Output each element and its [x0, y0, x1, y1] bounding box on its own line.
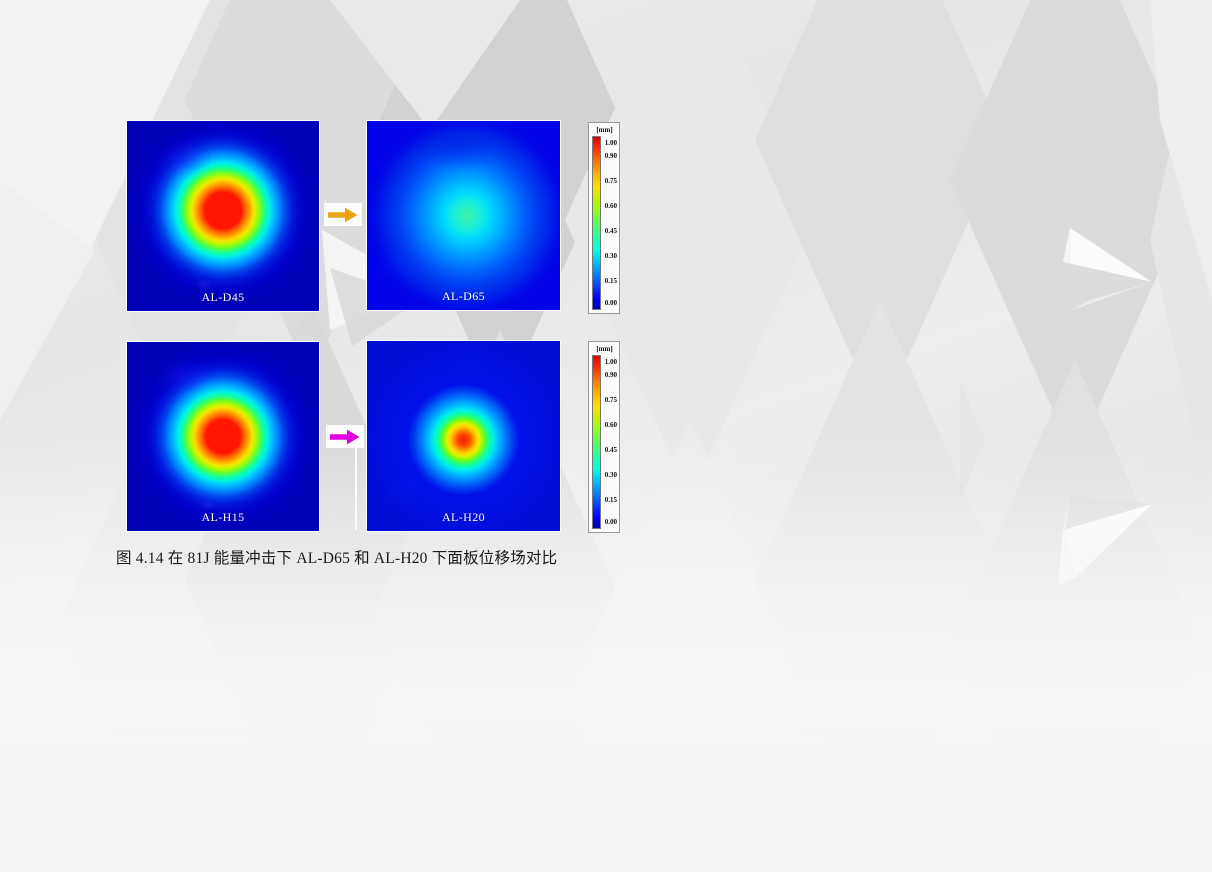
colorbar-tick: 0.60	[605, 421, 617, 429]
colorbar-tick: 0.30	[605, 471, 617, 479]
panel-label-al-h20: AL-H20	[367, 510, 560, 525]
panel-label-al-d65: AL-D65	[367, 289, 560, 304]
arrow-right-icon	[330, 429, 360, 445]
colorbar-body-top: 1.00 0.90 0.75 0.60 0.45 0.30 0.15 0.00	[592, 136, 617, 310]
heatmap-panel-al-d65: AL-D65	[366, 120, 561, 311]
colorbar-tick: 1.00	[605, 139, 617, 147]
figure-4-14: AL-D45 AL-D65 AL-H15 AL-H20 [mm]	[0, 0, 1212, 872]
heatmap-noise-al-h20	[367, 341, 560, 531]
panel-label-al-h15: AL-H15	[127, 510, 319, 525]
connector-tick-top	[325, 200, 326, 212]
colorbar-tick: 1.00	[605, 358, 617, 366]
comparison-arrow-top	[324, 203, 362, 226]
colorbar-tick: 0.45	[605, 446, 617, 454]
colorbar-tick: 0.45	[605, 227, 617, 235]
colorbar-tick: 0.75	[605, 177, 617, 185]
colorbar-tick: 0.75	[605, 396, 617, 404]
colorbar-tick: 0.00	[605, 518, 617, 526]
colorbar-tick: 0.30	[605, 252, 617, 260]
colorbar-ticklabels-bottom: 1.00 0.90 0.75 0.60 0.45 0.30 0.15 0.00	[603, 355, 617, 529]
heatmap-panel-al-d45: AL-D45	[126, 120, 320, 312]
colorbar-tick: 0.90	[605, 152, 617, 160]
colorbar-tick: 0.60	[605, 202, 617, 210]
heatmap-panel-al-h15: AL-H15	[126, 341, 320, 532]
arrow-right-icon	[328, 207, 358, 223]
connector-line-bottom	[355, 447, 357, 530]
figure-caption: 图 4.14 在 81J 能量冲击下 AL-D65 和 AL-H20 下面板位移…	[116, 546, 557, 568]
panel-label-al-d45: AL-D45	[127, 290, 319, 305]
comparison-arrow-bottom	[326, 425, 364, 448]
heatmap-noise-al-h15	[127, 342, 319, 531]
colorbar-bottom: [mm] 1.00 0.90 0.75 0.60 0.45 0.30 0.15 …	[588, 341, 620, 533]
colorbar-body-bottom: 1.00 0.90 0.75 0.60 0.45 0.30 0.15 0.00	[592, 355, 617, 529]
colorbar-tick: 0.00	[605, 299, 617, 307]
colorbar-tick: 0.90	[605, 371, 617, 379]
colorbar-unit-bottom: [mm]	[592, 345, 617, 354]
heatmap-panel-al-h20: AL-H20	[366, 340, 561, 532]
heatmap-noise-al-d65	[367, 121, 560, 310]
connector-tick-bottom	[327, 423, 328, 433]
colorbar-top: [mm] 1.00 0.90 0.75 0.60 0.45 0.30 0.15 …	[588, 122, 620, 314]
colorbar-ticklabels-top: 1.00 0.90 0.75 0.60 0.45 0.30 0.15 0.00	[603, 136, 617, 310]
colorbar-tick: 0.15	[605, 277, 617, 285]
colorbar-gradient-strip-bottom	[592, 355, 601, 529]
colorbar-tick: 0.15	[605, 496, 617, 504]
colorbar-unit-top: [mm]	[592, 126, 617, 135]
heatmap-noise-al-d45	[127, 121, 319, 311]
colorbar-gradient-strip-top	[592, 136, 601, 310]
